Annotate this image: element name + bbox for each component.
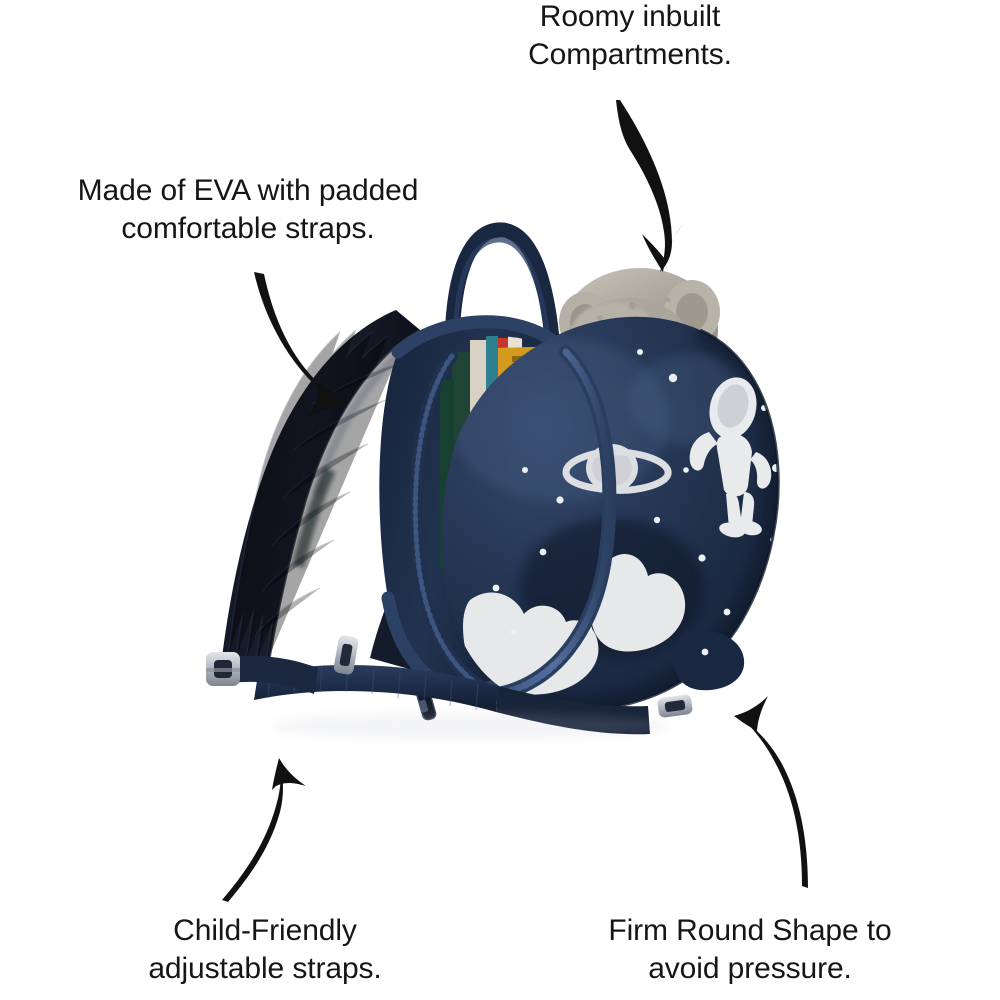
callout-eva-padded-straps: Made of EVA with padded comfortable stra…	[18, 172, 478, 248]
arrow-child-friendly-straps	[222, 758, 306, 902]
callout-firm-round-shape: Firm Round Shape to avoid pressure.	[545, 912, 955, 988]
arrow-eva-padded-straps	[254, 272, 347, 418]
arrow-firm-round-shape	[734, 696, 808, 888]
arrow-roomy-compartments	[616, 100, 684, 272]
callout-arrows	[0, 0, 1000, 1000]
infographic-canvas: Roomy inbuilt Compartments. Made of EVA …	[0, 0, 1000, 1000]
callout-roomy-compartments: Roomy inbuilt Compartments.	[430, 0, 830, 74]
callout-child-friendly-straps: Child-Friendly adjustable straps.	[70, 912, 460, 988]
